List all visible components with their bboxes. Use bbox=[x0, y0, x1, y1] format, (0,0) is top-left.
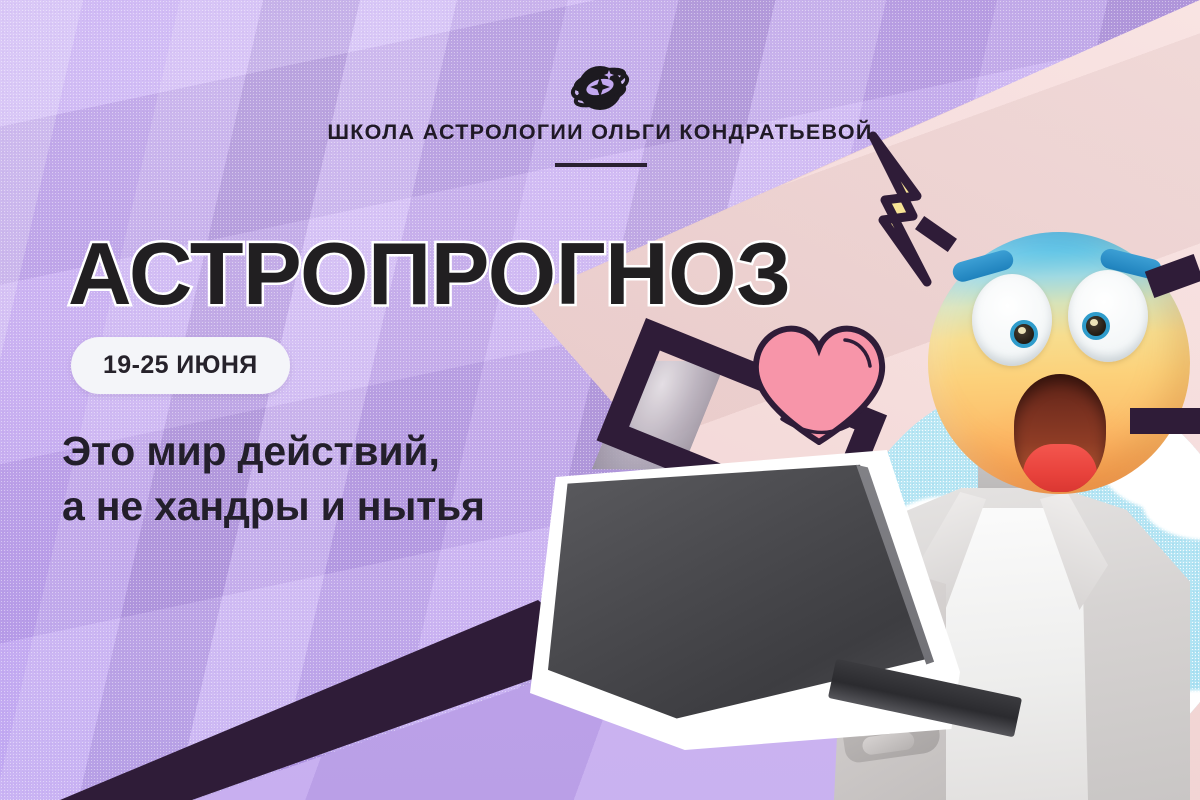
subtitle-text: Это мир действий, а не хандры и нытья bbox=[62, 424, 485, 534]
page-title: АСТРОПРОГНОЗ bbox=[68, 232, 791, 316]
pupil-left bbox=[1010, 320, 1038, 348]
laptop-photo-cutout bbox=[530, 450, 960, 750]
eye-left bbox=[972, 274, 1052, 366]
planet-star-logo bbox=[570, 56, 630, 118]
eye-right bbox=[1068, 270, 1148, 362]
brand-divider bbox=[555, 163, 647, 167]
tongue bbox=[1023, 444, 1097, 492]
poster-canvas: ШКОЛА АСТРОЛОГИИ ОЛЬГИ КОНДРАТЬЕВОЙ АСТР… bbox=[0, 0, 1200, 800]
date-badge: 19-25 ИЮНЯ bbox=[71, 337, 290, 394]
lightning-bolt-icon bbox=[845, 130, 955, 290]
heart-icon bbox=[752, 320, 887, 445]
dark-accent-shape bbox=[1130, 408, 1200, 434]
open-mouth bbox=[1014, 374, 1106, 492]
pupil-right bbox=[1082, 312, 1110, 340]
brand-title: ШКОЛА АСТРОЛОГИИ ОЛЬГИ КОНДРАТЬЕВОЙ bbox=[0, 120, 1200, 145]
